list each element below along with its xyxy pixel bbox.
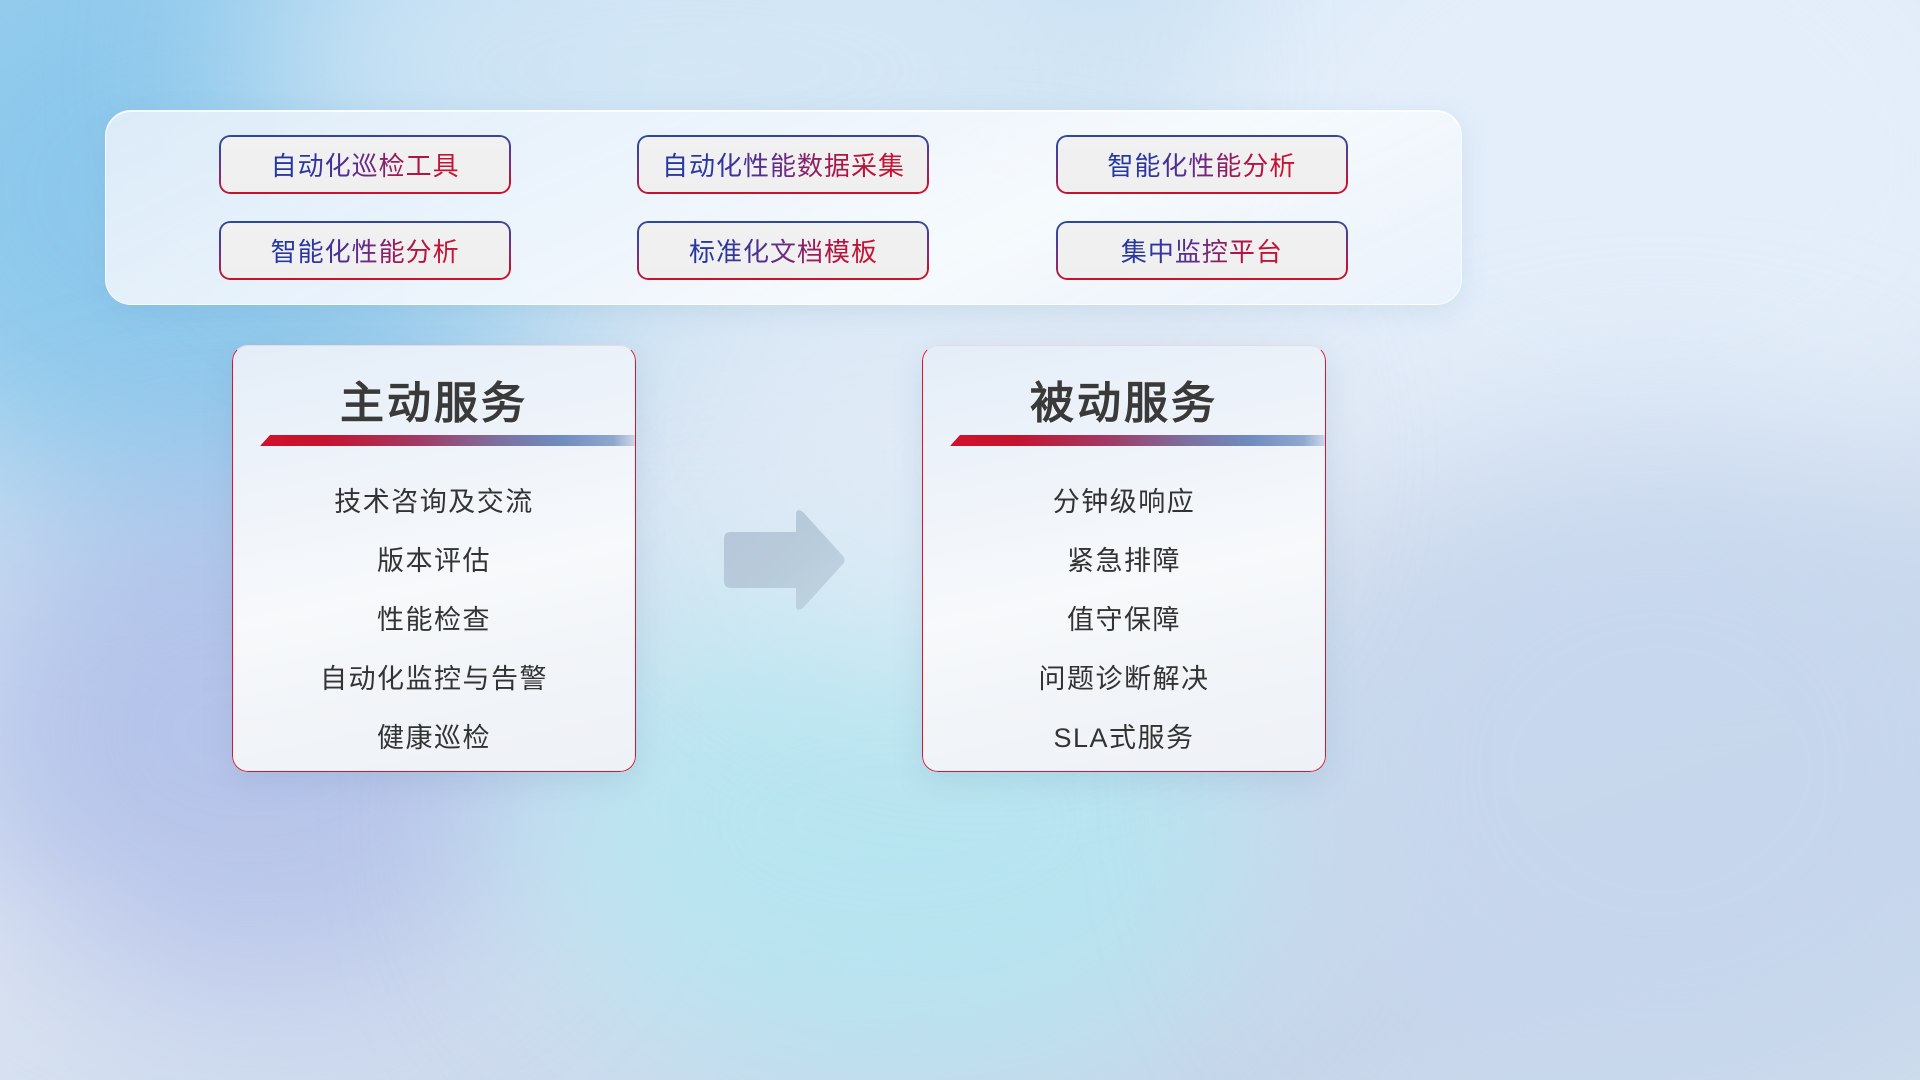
capability-tag[interactable]: 集中监控平台 <box>1056 221 1348 280</box>
card-divider <box>950 435 1326 446</box>
card-list-item: 技术咨询及交流 <box>334 473 534 532</box>
card-title: 主动服务 <box>232 367 636 431</box>
capability-tag[interactable]: 智能化性能分析 <box>219 221 511 280</box>
capability-tag-label: 智能化性能分析 <box>1107 146 1296 183</box>
service-card-reactive: 被动服务 分钟级响应 紧急排障 值守保障 问题诊断解决 SLA式服务 <box>922 345 1326 772</box>
card-title: 被动服务 <box>922 367 1326 431</box>
card-list-item: 版本评估 <box>377 532 491 591</box>
card-list-item: 性能检查 <box>377 591 491 650</box>
card-list-item: 值守保障 <box>1067 591 1181 650</box>
capability-tag[interactable]: 标准化文档模板 <box>637 221 929 280</box>
capability-tag-label: 集中监控平台 <box>1121 232 1283 269</box>
card-list-item: 健康巡检 <box>377 709 491 768</box>
capability-tag-label: 标准化文档模板 <box>689 232 878 269</box>
card-list-item: 自动化监控与告警 <box>320 650 548 709</box>
arrow-right-icon <box>718 505 848 615</box>
capability-panel: 自动化巡检工具 自动化性能数据采集 智能化性能分析 智能化性能分析 标准化文档模… <box>105 110 1462 305</box>
card-item-list: 技术咨询及交流 版本评估 性能检查 自动化监控与告警 健康巡检 <box>232 473 636 768</box>
capability-tag[interactable]: 自动化巡检工具 <box>219 135 511 194</box>
service-card-proactive: 主动服务 技术咨询及交流 版本评估 性能检查 自动化监控与告警 健康巡检 <box>232 345 636 772</box>
capability-tag-label: 自动化性能数据采集 <box>662 146 905 183</box>
capability-tag[interactable]: 智能化性能分析 <box>1056 135 1348 194</box>
card-list-item: 分钟级响应 <box>1053 473 1196 532</box>
card-list-item: 紧急排障 <box>1067 532 1181 591</box>
card-list-item: SLA式服务 <box>1053 709 1194 768</box>
card-list-item: 问题诊断解决 <box>1039 650 1210 709</box>
card-divider <box>260 435 636 446</box>
capability-tag-grid: 自动化巡检工具 自动化性能数据采集 智能化性能分析 智能化性能分析 标准化文档模… <box>106 111 1461 304</box>
capability-tag-label: 智能化性能分析 <box>271 232 460 269</box>
card-item-list: 分钟级响应 紧急排障 值守保障 问题诊断解决 SLA式服务 <box>922 473 1326 768</box>
capability-tag-label: 自动化巡检工具 <box>271 146 460 183</box>
capability-tag[interactable]: 自动化性能数据采集 <box>637 135 929 194</box>
